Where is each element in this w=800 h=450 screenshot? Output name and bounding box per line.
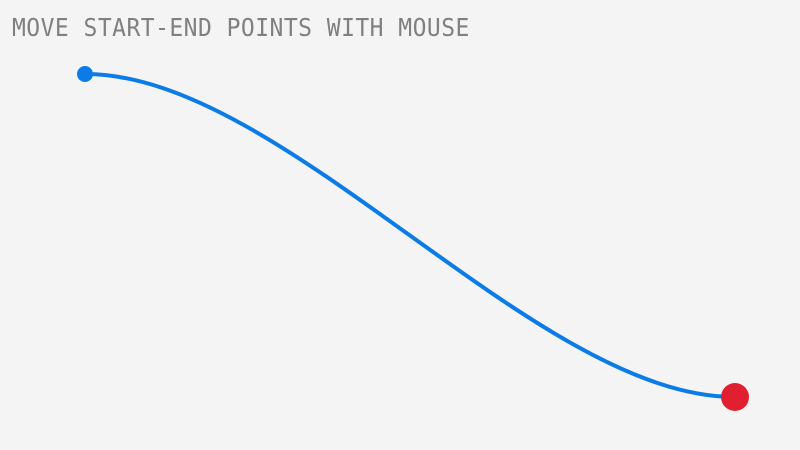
bezier-canvas[interactable] — [0, 0, 800, 450]
start-point-handle[interactable] — [77, 66, 93, 82]
end-point-handle[interactable] — [721, 383, 749, 411]
bezier-curve — [85, 74, 735, 397]
canvas-stage[interactable]: MOVE START-END POINTS WITH MOUSE — [0, 0, 800, 450]
page-title: MOVE START-END POINTS WITH MOUSE — [12, 14, 470, 42]
